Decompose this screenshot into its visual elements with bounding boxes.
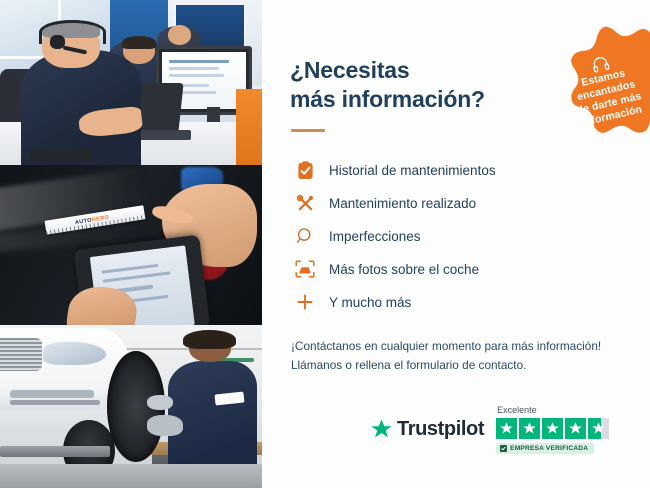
trustpilot-star-icon xyxy=(370,418,393,441)
list-item: Mantenimiento realizado xyxy=(290,187,620,220)
trustpilot-stars xyxy=(496,418,609,439)
desk-tablet xyxy=(28,149,93,161)
list-item: Y mucho más xyxy=(290,286,620,319)
headline-line-1: ¿Necesitas xyxy=(290,57,409,83)
headline-line-2: más información? xyxy=(290,85,540,114)
technician-glove xyxy=(147,395,173,410)
tablet-text-line xyxy=(102,271,171,283)
background-person-head xyxy=(168,25,192,45)
bumper-vent xyxy=(10,390,94,398)
contact-line-2: Llámanos o rellena el formulario de cont… xyxy=(291,358,526,372)
contact-paragraph: ¡Contáctanos en cualquier momento para m… xyxy=(291,337,641,375)
screen-row xyxy=(169,67,219,70)
list-item-label: Mantenimiento realizado xyxy=(320,196,476,211)
call-center-agents-photo xyxy=(0,0,262,165)
car-grille xyxy=(0,338,42,371)
trustpilot-score-block: Excelente xyxy=(496,405,609,454)
list-item-label: Historial de mantenimientos xyxy=(320,163,496,178)
star-filled xyxy=(496,418,517,439)
technician-hair xyxy=(183,330,235,350)
bumper-chrome-trim xyxy=(10,400,99,405)
workshop-floor xyxy=(0,464,262,488)
star-filled xyxy=(565,418,586,439)
page-title: ¿Necesitas más información? xyxy=(290,56,540,115)
star-partial xyxy=(588,418,609,439)
screen-row xyxy=(169,60,229,63)
car-lift-arm xyxy=(0,446,110,457)
tablet-text-line xyxy=(101,263,158,273)
list-item-label: Más fotos sobre el coche xyxy=(320,262,479,277)
trustpilot-rating[interactable]: Trustpilot Excelente xyxy=(370,405,609,454)
title-underline-divider xyxy=(291,129,325,132)
list-item: Más fotos sobre el coche xyxy=(290,253,620,286)
car-headlight xyxy=(42,341,107,366)
list-item: Imperfecciones xyxy=(290,220,620,253)
list-item-label: Imperfecciones xyxy=(320,229,421,244)
photo-column: AUTOHERO xyxy=(0,0,262,488)
badge-text: Estamos encantados de darte más informac… xyxy=(555,61,650,133)
trustpilot-wordmark: Trustpilot xyxy=(397,418,484,441)
screen-row xyxy=(169,74,224,77)
plus-icon xyxy=(290,293,320,311)
orange-equipment xyxy=(236,89,262,165)
wrench-screwdriver-icon xyxy=(290,194,320,213)
clipboard-check-icon xyxy=(290,161,320,180)
second-agent-hair xyxy=(122,36,156,49)
car-inspection-ruler-tablet-photo: AUTOHERO xyxy=(0,165,262,325)
magnifier-icon xyxy=(290,227,320,245)
content-panel: Estamos encantados de darte más informac… xyxy=(262,0,650,488)
workshop-tire-check-photo xyxy=(0,325,262,488)
check-square-icon xyxy=(500,445,507,452)
star-filled xyxy=(519,418,540,439)
information-banner: AUTOHERO xyxy=(0,0,650,488)
star-filled xyxy=(542,418,563,439)
trustpilot-rating-label: Excelente xyxy=(497,405,537,415)
contact-line-1: ¡Contáctanos en cualquier momento para m… xyxy=(291,339,601,353)
car-photo-frame-icon xyxy=(290,260,320,278)
technician-glove xyxy=(147,415,184,436)
support-badge: Estamos encantados de darte más informac… xyxy=(538,24,650,156)
list-item-label: Y mucho más xyxy=(320,295,411,310)
verified-company-badge: EMPRESA VERIFICADA xyxy=(496,443,594,454)
trustpilot-logo[interactable]: Trustpilot xyxy=(370,418,484,441)
feature-list: Historial de mantenimientos Mantenimient… xyxy=(290,154,620,319)
verified-company-label: EMPRESA VERIFICADA xyxy=(510,445,588,452)
